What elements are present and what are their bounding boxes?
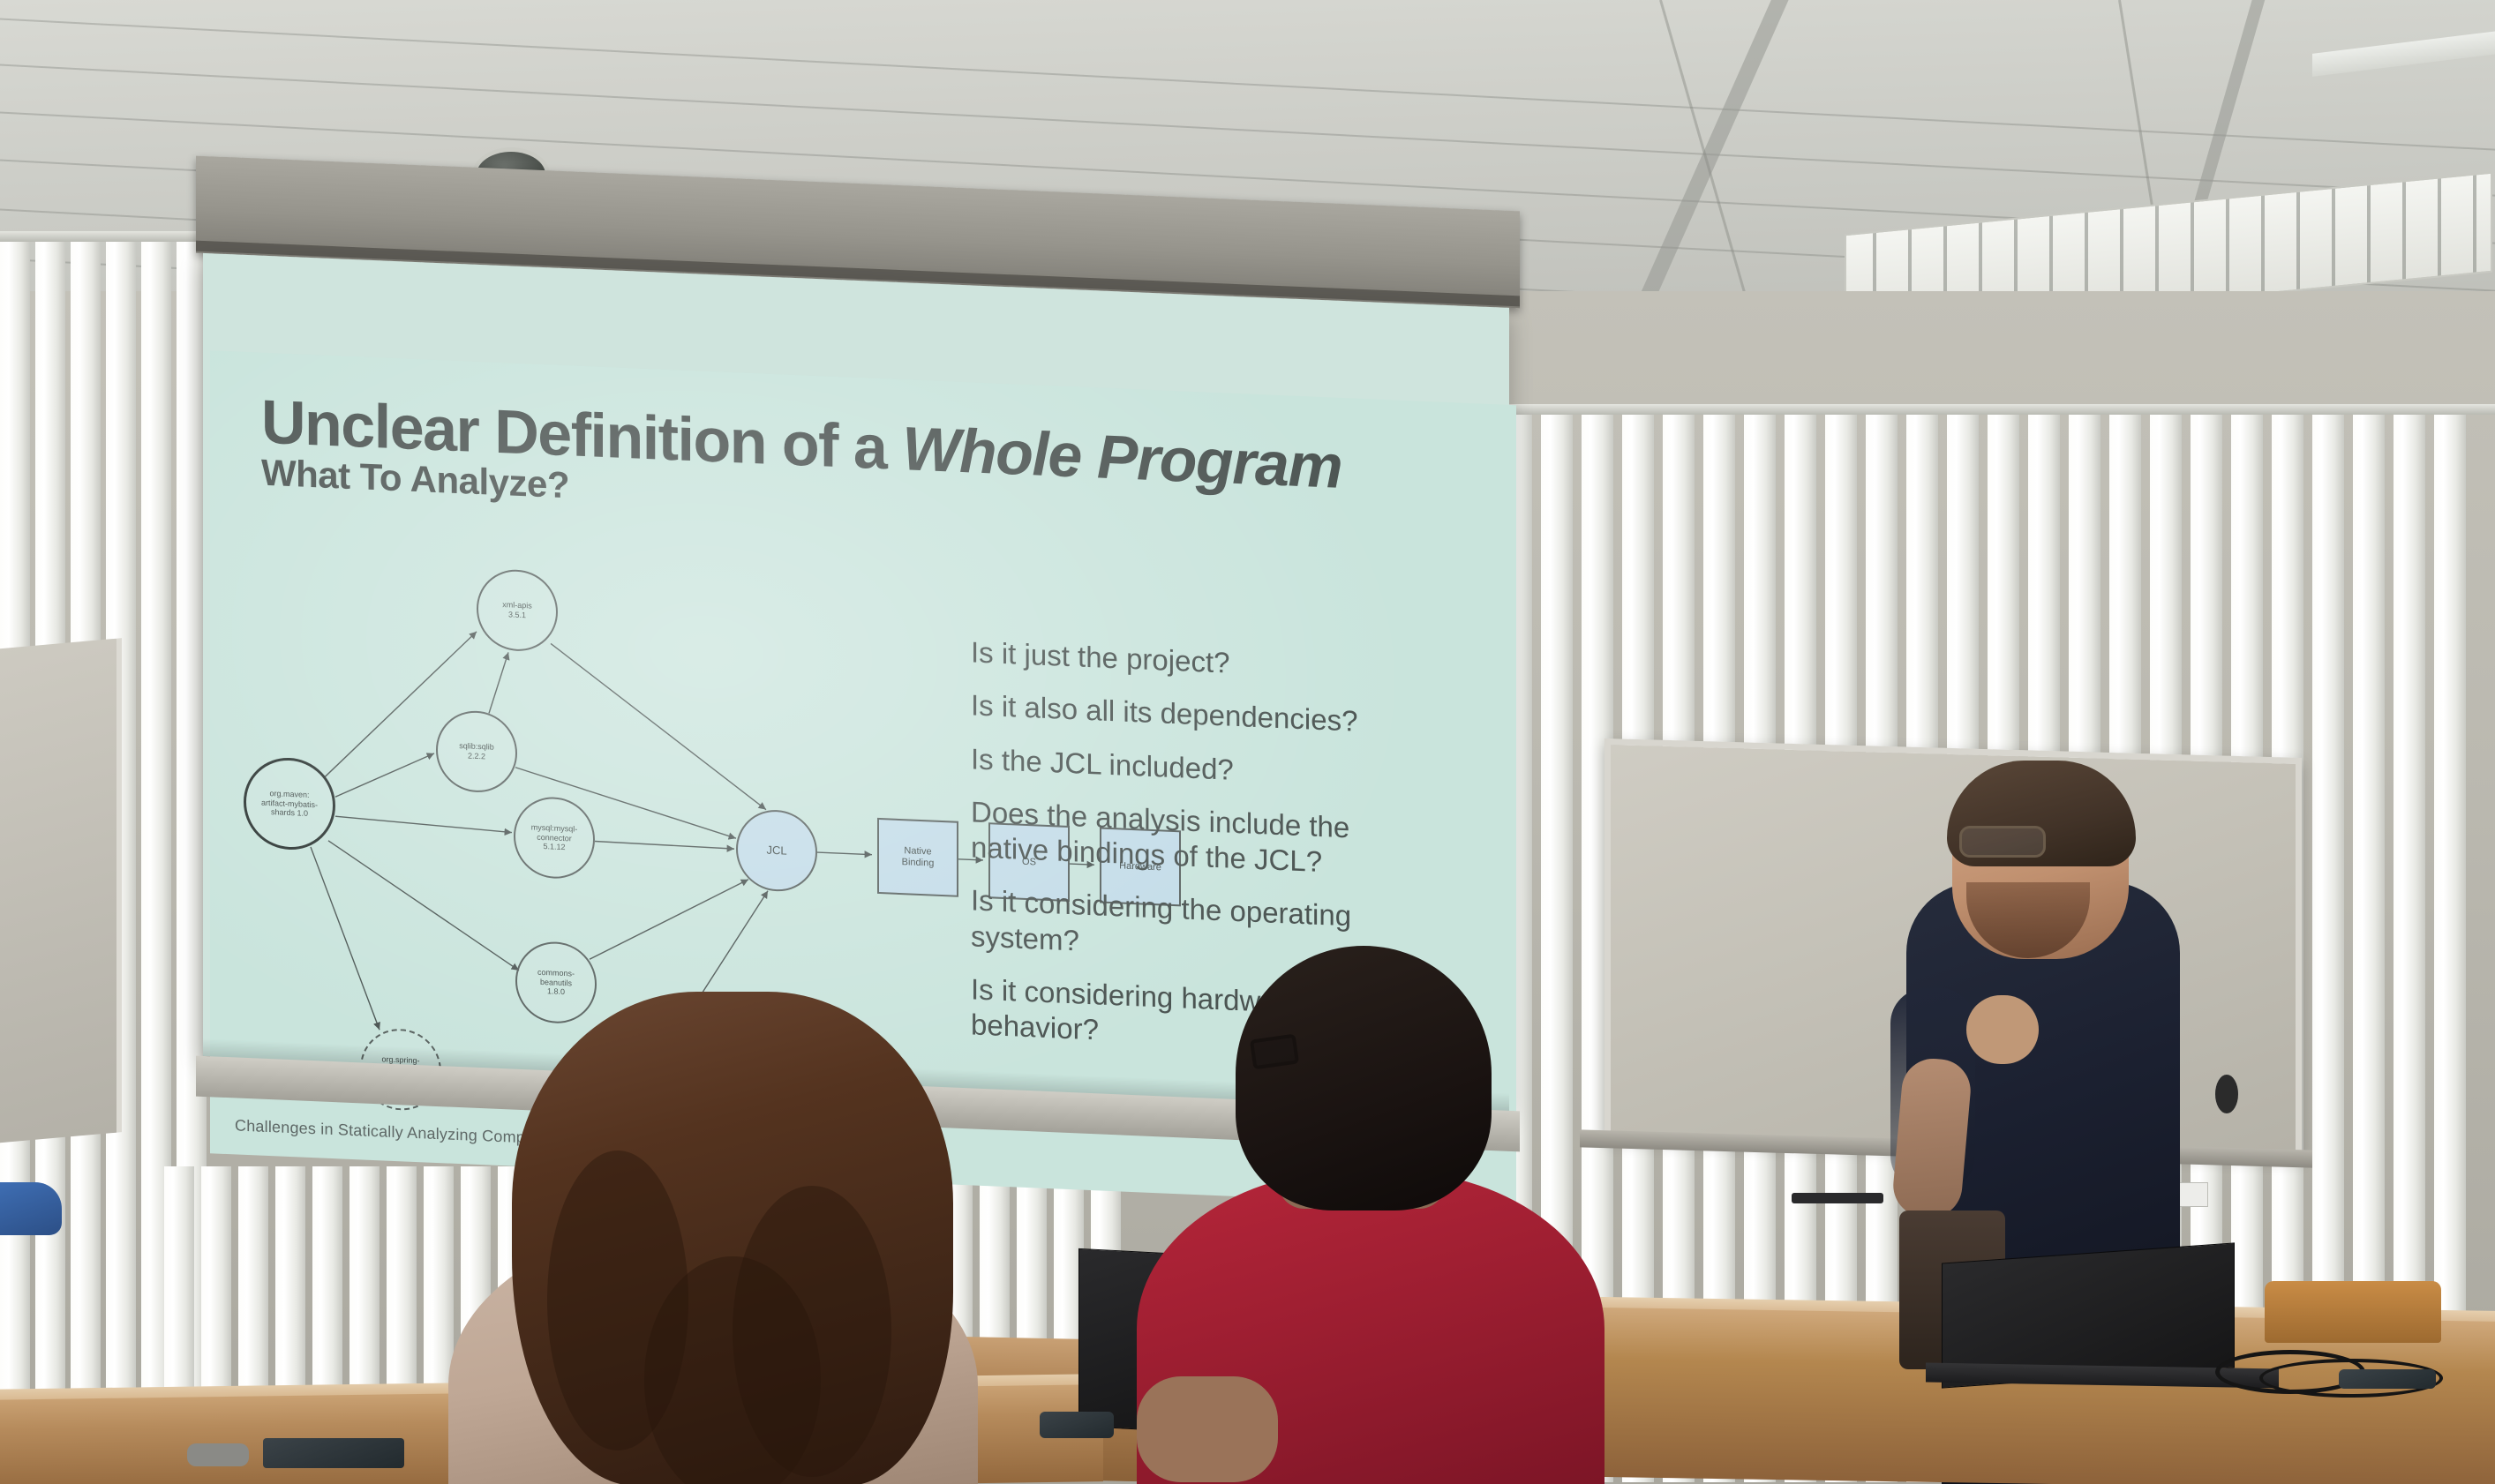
whiteboard-magnet-icon (2215, 1075, 2238, 1113)
dependency-graph: org.maven:artifact-mybatis-shards 1.0 xm… (237, 536, 960, 1096)
graph-node-native-binding: NativeBinding (877, 818, 958, 897)
blue-cloth (0, 1182, 62, 1235)
desk-device[interactable] (2339, 1369, 2436, 1389)
side-whiteboard (0, 638, 122, 1144)
attendee-red-arm (1137, 1376, 1278, 1482)
blinds-rail-right (1500, 404, 2495, 415)
tablet-on-desk[interactable] (263, 1438, 404, 1468)
slide-bullet: Does the analysis include the native bin… (971, 794, 1430, 884)
keys-on-desk[interactable] (187, 1443, 249, 1466)
whiteboard-marker (1792, 1193, 1883, 1203)
chair-right (2265, 1281, 2441, 1343)
attendee-red-head (1236, 946, 1492, 1210)
attendee-red-glasses-icon (1250, 1034, 1299, 1070)
slide-bullet: Is it just the project? (971, 634, 1430, 689)
presenter-glasses-icon (1959, 826, 2046, 858)
ceiling-light-strip (2312, 31, 2495, 77)
presenter-hand (1966, 995, 2039, 1064)
attendee-phone[interactable] (1040, 1412, 1114, 1438)
blinds-rail-left (0, 231, 221, 242)
slide-bullet: Is the JCL included? (971, 741, 1430, 796)
attendee-long-hair-hair (512, 992, 953, 1484)
slide-title-emphasis: Whole Program (902, 414, 1341, 501)
lecture-room-photo: Unclear Definition of a Whole Program Wh… (0, 0, 2495, 1484)
slide-bullet: Is it also all its dependencies? (971, 688, 1430, 743)
